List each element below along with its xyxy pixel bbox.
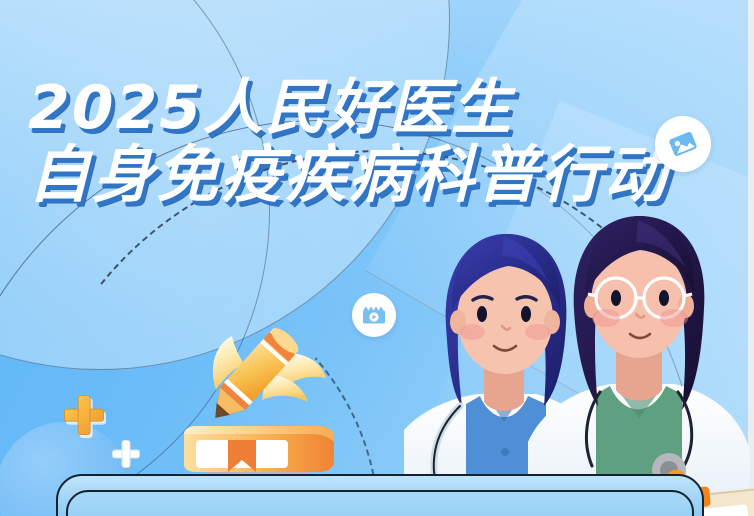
- photo-icon[interactable]: [655, 116, 711, 172]
- poster-title: 2025人民好医生 自身免疫疾病科普行动: [28, 78, 668, 206]
- photo-icon-glyph: [665, 126, 701, 162]
- doctor-right-eye-left: [611, 290, 621, 306]
- plus-orange-bar-v: [78, 395, 91, 435]
- video-clapperboard-glyph: [359, 300, 389, 330]
- plus-marker-white: [112, 440, 140, 468]
- plus-white-bar-v: [122, 440, 131, 468]
- doctor-right-eye-right: [659, 290, 669, 306]
- video-clapperboard-icon[interactable]: [352, 293, 396, 337]
- book-group: [184, 426, 334, 472]
- plus-marker-orange: [64, 395, 104, 435]
- bottom-bar-inner: [66, 490, 694, 516]
- education-illustration: [168, 300, 353, 500]
- doctor-left-eye-left: [477, 306, 487, 322]
- poster-canvas: 2025人民好医生 自身免疫疾病科普行动: [0, 0, 754, 516]
- poster-title-line-2: 自身免疫疾病科普行动: [28, 143, 668, 206]
- doctor-characters: [404, 206, 754, 516]
- poster-title-line-1: 2025人民好医生: [28, 78, 668, 139]
- doctor-left-eye-right: [521, 306, 531, 322]
- doctor-right-group: [528, 216, 754, 516]
